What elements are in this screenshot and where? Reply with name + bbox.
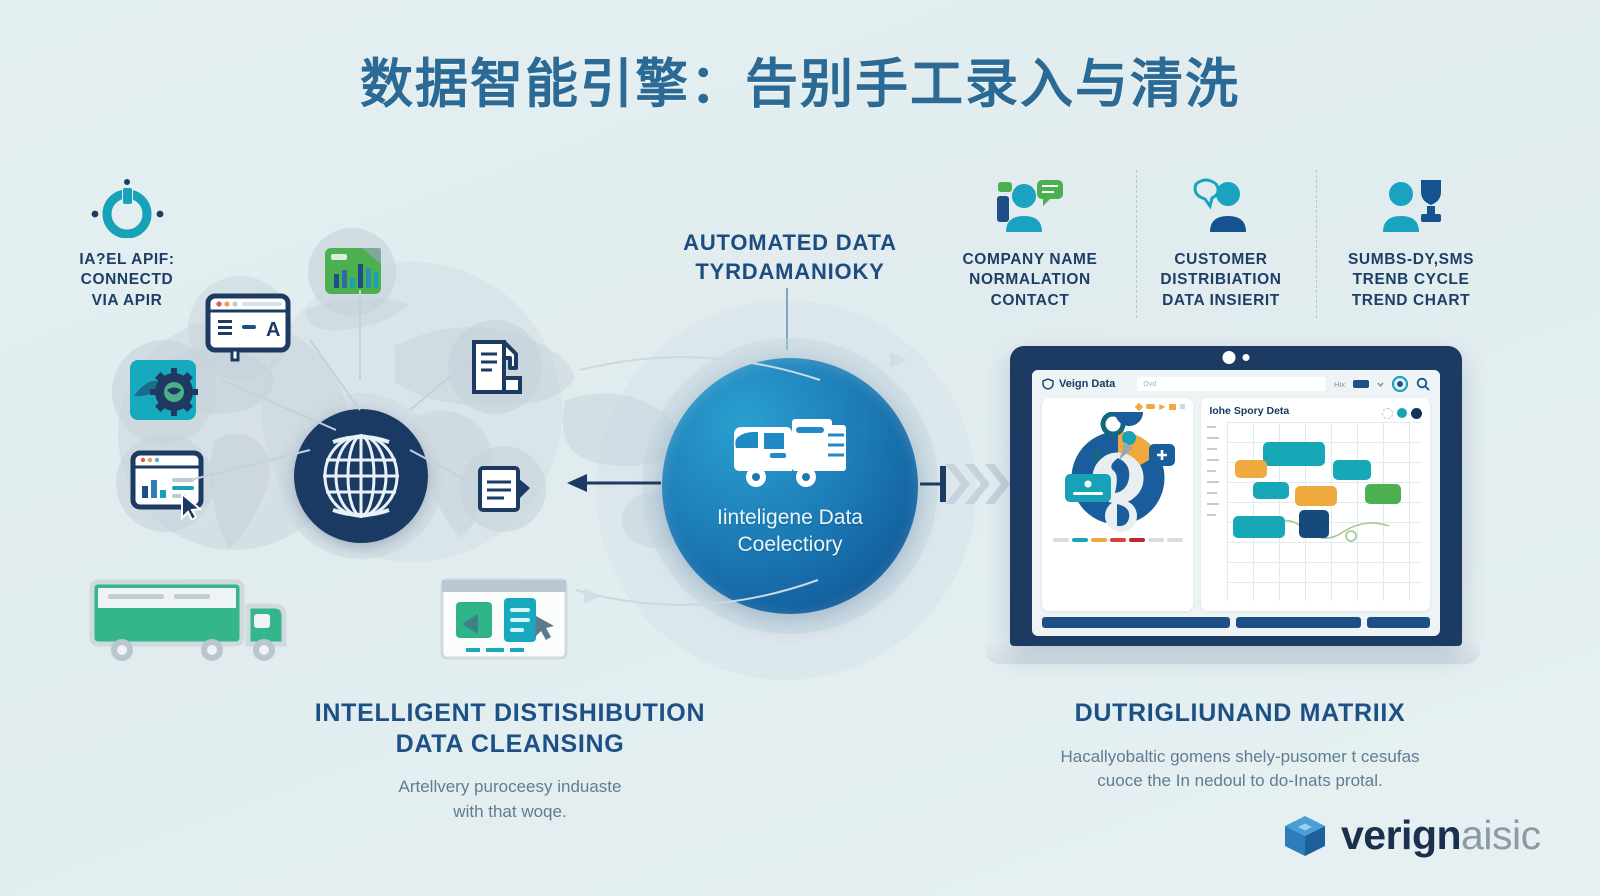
label-trend-line1: SUMBS-DY,SMS xyxy=(1306,250,1516,270)
label-automated-line1: AUTOMATED DATA xyxy=(610,228,970,257)
dashboard-screen[interactable]: Veign Data Ovd Hix xyxy=(1032,370,1440,636)
dashboard-brand: Veign Data xyxy=(1042,378,1115,390)
laptop-device: Veign Data Ovd Hix xyxy=(1010,346,1462,646)
cluster-connectors xyxy=(110,230,570,590)
donut-chart-icon xyxy=(1057,412,1179,534)
search-suffix: Hix xyxy=(1334,380,1345,389)
toggle-pill[interactable] xyxy=(1353,380,1369,388)
brand-name-bold: verign xyxy=(1341,812,1461,858)
brand-wordmark: verignaisic xyxy=(1341,812,1541,859)
green-truck-icon xyxy=(88,572,292,664)
caption-right: DUTRIGLIUNAND MATRIIX Hacallyobaltic gom… xyxy=(980,698,1500,794)
label-trend-line3: TREND CHART xyxy=(1306,291,1516,311)
chart-bubble xyxy=(1233,516,1285,538)
flow-decoration xyxy=(560,330,940,630)
dashboard-body: Iohe Spory Deta xyxy=(1032,398,1440,617)
chart-bubble xyxy=(1263,442,1325,466)
laptop-camera xyxy=(1223,351,1250,364)
person-award-icon xyxy=(1306,176,1516,238)
dashboard-panel-left[interactable] xyxy=(1042,398,1193,611)
infographic-canvas: 数据智能引擎：告别手工录入与清洗 IA?EL xyxy=(0,0,1600,896)
label-company-line3: CONTACT xyxy=(925,291,1135,311)
label-company-line2: NORMALATION xyxy=(925,270,1135,290)
label-customer-line1: CUSTOMER xyxy=(1116,250,1326,270)
shield-icon xyxy=(1042,378,1054,390)
label-automated-data: AUTOMATED DATA TYRDAMANIOKY xyxy=(610,228,970,286)
power-connect-icon xyxy=(22,176,232,238)
panel-left-legend xyxy=(1053,534,1183,548)
search-input[interactable]: Ovd xyxy=(1137,377,1326,391)
chart-bubble xyxy=(1333,460,1371,480)
label-automated-line2: TYRDAMANIOKY xyxy=(610,257,970,286)
dashboard-brand-label: Veign Data xyxy=(1059,378,1115,390)
search-value: Ovd xyxy=(1143,381,1156,388)
label-trend-chart: SUMBS-DY,SMS TRENB CYCLE TREND CHART xyxy=(1306,176,1516,311)
label-customer-distribution: CUSTOMER DISTRIBIATION DATA INSIERIT xyxy=(1116,176,1326,311)
panel-right-title: Iohe Spory Deta xyxy=(1209,405,1289,417)
panel-right-toolbar[interactable] xyxy=(1382,408,1422,419)
chevron-down-icon[interactable] xyxy=(1377,381,1384,388)
page-title: 数据智能引擎：告别手工录入与清洗 xyxy=(0,42,1600,118)
cube-icon xyxy=(1282,813,1328,859)
chart-y-axis xyxy=(1207,426,1219,516)
search-icon[interactable] xyxy=(1416,377,1430,391)
person-chat-icon xyxy=(925,176,1135,238)
panel-left-toolbar[interactable] xyxy=(1136,404,1193,410)
label-trend-line2: TRENB CYCLE xyxy=(1306,270,1516,290)
label-company-name: COMPANY NAME NORMALATION CONTACT xyxy=(925,176,1135,311)
chart-bubble xyxy=(1253,482,1289,499)
dashboard-panel-right[interactable]: Iohe Spory Deta xyxy=(1201,398,1430,611)
caption-left-title1: INTELLIGENT DISTISHIBUTION xyxy=(315,699,705,727)
caption-left-body2: with that woqe. xyxy=(453,802,566,821)
caption-right-body2: cuoce the In nedoul to do-Inats protal. xyxy=(1097,771,1382,790)
label-customer-line2: DISTRIBIATION xyxy=(1116,270,1326,290)
caption-right-body1: Hacallyobaltic gomens shely-pusomer t ce… xyxy=(1060,747,1419,766)
dashboard-footer xyxy=(1032,617,1440,636)
avatar-icon[interactable] xyxy=(1392,376,1408,392)
label-company-line1: COMPANY NAME xyxy=(925,250,1135,270)
chart-bubble xyxy=(1299,510,1329,538)
label-customer-line3: DATA INSIERIT xyxy=(1116,291,1326,311)
brand-name-light: aisic xyxy=(1461,812,1541,858)
caption-left-body1: Artellvery puroceesy induaste xyxy=(398,777,621,796)
chart-bubble xyxy=(1235,460,1267,478)
person-thought-icon xyxy=(1116,176,1326,238)
caption-right-title1: DUTRIGLIUNAND MATRIIX xyxy=(1075,699,1406,727)
caption-left-title2: DATA CLEANSING xyxy=(396,730,625,758)
brand-logo: verignaisic xyxy=(1282,812,1541,859)
chart-bubble xyxy=(1365,484,1401,504)
caption-left: INTELLIGENT DISTISHIBUTION DATA CLEANSIN… xyxy=(250,698,770,824)
data-cleansing-card-icon xyxy=(438,572,574,664)
dashboard-header: Veign Data Ovd Hix xyxy=(1032,370,1440,398)
chart-bubble xyxy=(1295,486,1337,506)
